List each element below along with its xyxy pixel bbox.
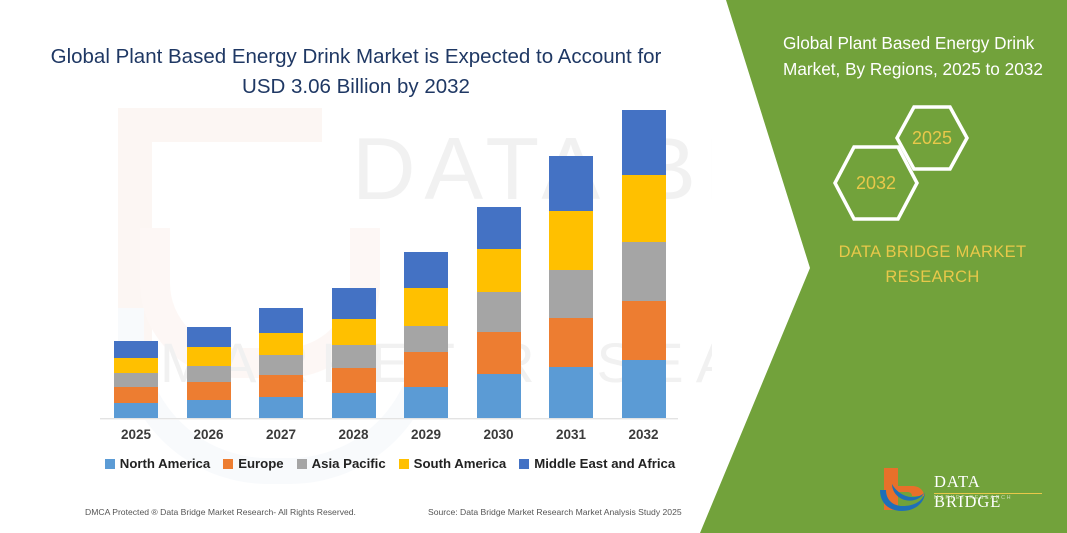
bar-segment bbox=[477, 292, 521, 332]
bar-group bbox=[318, 110, 390, 419]
x-axis-label: 2027 bbox=[245, 427, 317, 442]
stacked-bar bbox=[332, 288, 376, 419]
legend-swatch-icon bbox=[223, 459, 233, 469]
panel-title: Global Plant Based Energy Drink Market, … bbox=[783, 30, 1053, 82]
bar-segment bbox=[622, 242, 666, 301]
bar-segment bbox=[187, 366, 231, 383]
bar-segment bbox=[187, 347, 231, 366]
bar-segment bbox=[404, 352, 448, 387]
brand-line-1: DATA BRIDGE MARKET bbox=[820, 240, 1045, 265]
x-axis-line-shadow bbox=[100, 419, 678, 420]
logo-mark-icon bbox=[878, 466, 930, 512]
legend-swatch-icon bbox=[297, 459, 307, 469]
bar-segment bbox=[332, 368, 376, 393]
stacked-bar bbox=[549, 156, 593, 419]
bar-segment bbox=[114, 341, 158, 358]
stacked-bar bbox=[477, 207, 521, 419]
bar-segment bbox=[549, 211, 593, 270]
bar-segment bbox=[622, 110, 666, 175]
bar-segment bbox=[332, 288, 376, 319]
infographic-root: DATA BRIDGE MARKET RESEARCH Global Plant… bbox=[0, 0, 1067, 533]
bar-segment bbox=[114, 373, 158, 387]
bar-group bbox=[608, 110, 680, 419]
legend-item[interactable]: Asia Pacific bbox=[297, 456, 386, 471]
bar-segment bbox=[549, 270, 593, 317]
bar-segment bbox=[404, 387, 448, 419]
x-axis-labels: 20252026202720282029203020312032 bbox=[100, 427, 680, 447]
bar-segment bbox=[114, 358, 158, 373]
legend-item[interactable]: South America bbox=[399, 456, 507, 471]
bar-segment bbox=[622, 301, 666, 360]
chart-title: Global Plant Based Energy Drink Market i… bbox=[46, 42, 666, 102]
bar-group bbox=[173, 110, 245, 419]
bar-segment bbox=[332, 393, 376, 419]
legend-label: Middle East and Africa bbox=[534, 456, 675, 471]
bar-segment bbox=[404, 288, 448, 326]
bar-group bbox=[390, 110, 462, 419]
chart-legend: North AmericaEuropeAsia PacificSouth Ame… bbox=[100, 456, 680, 471]
bar-segment bbox=[332, 345, 376, 369]
legend-label: North America bbox=[120, 456, 210, 471]
data-bridge-logo: DATA BRIDGE MARKET RESEARCH bbox=[878, 466, 1048, 514]
bar-group bbox=[535, 110, 607, 419]
stacked-bar bbox=[259, 308, 303, 419]
footer-source: Source: Data Bridge Market Research Mark… bbox=[428, 507, 682, 517]
logo-divider bbox=[934, 493, 1042, 494]
legend-label: Asia Pacific bbox=[312, 456, 386, 471]
bar-segment bbox=[622, 360, 666, 419]
brand-name: DATA BRIDGE MARKET RESEARCH bbox=[820, 240, 1045, 290]
bar-segment bbox=[187, 382, 231, 400]
legend-item[interactable]: Middle East and Africa bbox=[519, 456, 675, 471]
x-axis-label: 2025 bbox=[100, 427, 172, 442]
logo-name: DATA BRIDGE bbox=[934, 472, 1048, 512]
bar-segment bbox=[404, 252, 448, 289]
stacked-bar bbox=[404, 252, 448, 419]
bar-segment bbox=[114, 387, 158, 402]
logo-tagline: MARKET RESEARCH bbox=[934, 495, 1012, 501]
brand-line-2: RESEARCH bbox=[820, 265, 1045, 290]
x-axis-label: 2030 bbox=[463, 427, 535, 442]
x-axis-label: 2032 bbox=[608, 427, 680, 442]
legend-label: Europe bbox=[238, 456, 283, 471]
footer-copyright: DMCA Protected ® Data Bridge Market Rese… bbox=[85, 507, 356, 517]
bar-segment bbox=[114, 403, 158, 420]
bar-segment bbox=[259, 375, 303, 396]
bar-segment bbox=[187, 400, 231, 419]
legend-swatch-icon bbox=[105, 459, 115, 469]
bar-group bbox=[100, 110, 172, 419]
bar-segment bbox=[549, 367, 593, 419]
bar-segment bbox=[404, 326, 448, 352]
x-axis-label: 2031 bbox=[535, 427, 607, 442]
bar-segment bbox=[549, 156, 593, 211]
bar-segment bbox=[259, 308, 303, 333]
legend-swatch-icon bbox=[519, 459, 529, 469]
legend-label: South America bbox=[414, 456, 507, 471]
legend-item[interactable]: Europe bbox=[223, 456, 283, 471]
legend-item[interactable]: North America bbox=[105, 456, 210, 471]
bar-segment bbox=[259, 333, 303, 355]
footer: DMCA Protected ® Data Bridge Market Rese… bbox=[0, 507, 690, 525]
bar-segment bbox=[477, 249, 521, 291]
stacked-bar-chart bbox=[100, 110, 680, 419]
bar-group bbox=[463, 110, 535, 419]
legend-swatch-icon bbox=[399, 459, 409, 469]
stacked-bar bbox=[187, 327, 231, 419]
hexagon-2032-label: 2032 bbox=[856, 173, 896, 194]
bar-segment bbox=[477, 332, 521, 374]
bar-segment bbox=[477, 374, 521, 419]
bar-segment bbox=[259, 355, 303, 375]
x-axis-label: 2028 bbox=[318, 427, 390, 442]
bar-segment bbox=[477, 207, 521, 249]
stacked-bar bbox=[622, 110, 666, 419]
bar-group bbox=[245, 110, 317, 419]
bar-segment bbox=[187, 327, 231, 347]
bar-segment bbox=[622, 175, 666, 242]
x-axis-label: 2026 bbox=[173, 427, 245, 442]
x-axis-label: 2029 bbox=[390, 427, 462, 442]
bar-segment bbox=[549, 318, 593, 368]
bar-segment bbox=[332, 319, 376, 345]
hexagon-2025-label: 2025 bbox=[912, 128, 952, 149]
hexagon-2025: 2025 bbox=[894, 104, 970, 172]
bar-segment bbox=[259, 397, 303, 419]
chart-panel: DATA BRIDGE MARKET RESEARCH Global Plant… bbox=[0, 0, 712, 533]
stacked-bar bbox=[114, 341, 158, 419]
